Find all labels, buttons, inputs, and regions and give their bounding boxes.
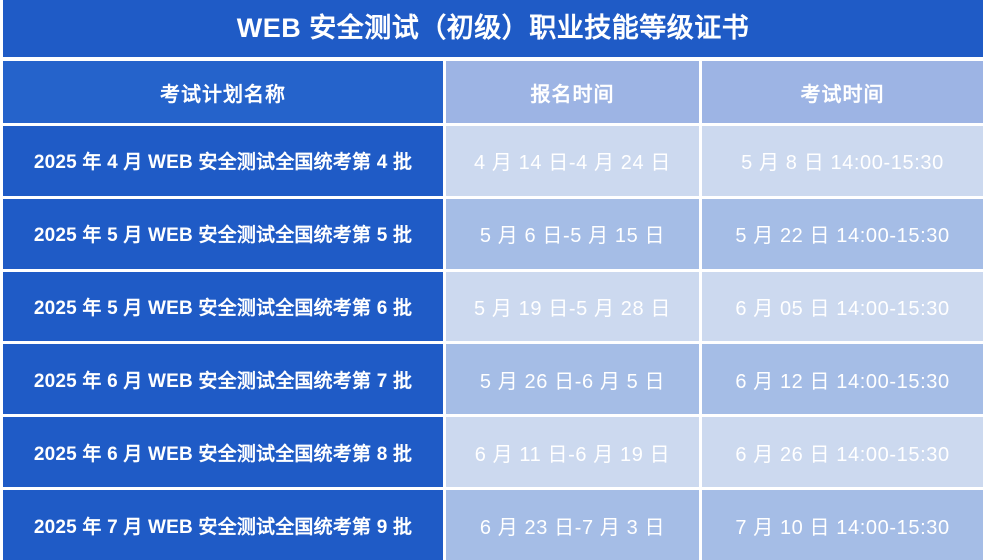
table-row: 2025 年 6 月 WEB 安全测试全国统考第 8 批 6 月 11 日-6 …	[3, 414, 983, 487]
table-row: 2025 年 5 月 WEB 安全测试全国统考第 5 批 5 月 6 日-5 月…	[3, 196, 983, 269]
plan-name-text: 2025 年 4 月 WEB 安全测试全国统考第 4 批	[34, 147, 412, 174]
cell-exam-time: 7 月 10 日 14:00-15:30	[702, 490, 983, 560]
column-header-exam-time-label: 考试时间	[801, 78, 885, 107]
page-title: WEB 安全测试（初级）职业技能等级证书	[237, 15, 750, 42]
column-header-exam-time: 考试时间	[702, 61, 983, 123]
cell-exam-time: 5 月 8 日 14:00-15:30	[702, 126, 983, 196]
plan-name-text: 2025 年 5 月 WEB 安全测试全国统考第 6 批	[34, 293, 412, 320]
plan-name-text: 2025 年 7 月 WEB 安全测试全国统考第 9 批	[34, 512, 412, 539]
cell-application-time: 5 月 26 日-6 月 5 日	[446, 344, 699, 414]
cell-plan-name: 2025 年 6 月 WEB 安全测试全国统考第 8 批	[3, 417, 443, 487]
exam-schedule-card: WEB 安全测试（初级）职业技能等级证书 考试计划名称 报名时间 考试时间 20…	[0, 0, 986, 560]
column-header-application-time: 报名时间	[446, 61, 699, 123]
table-row: 2025 年 6 月 WEB 安全测试全国统考第 7 批 5 月 26 日-6 …	[3, 341, 983, 414]
cell-exam-time: 6 月 05 日 14:00-15:30	[702, 272, 983, 342]
exam-time-text: 5 月 22 日 14:00-15:30	[735, 219, 949, 248]
exam-time-text: 6 月 05 日 14:00-15:30	[735, 292, 949, 321]
cell-exam-time: 6 月 26 日 14:00-15:30	[702, 417, 983, 487]
cell-plan-name: 2025 年 6 月 WEB 安全测试全国统考第 7 批	[3, 344, 443, 414]
table-row: 2025 年 4 月 WEB 安全测试全国统考第 4 批 4 月 14 日-4 …	[3, 123, 983, 196]
application-time-text: 6 月 11 日-6 月 19 日	[475, 438, 670, 467]
table-header-row: 考试计划名称 报名时间 考试时间	[3, 61, 983, 123]
cell-exam-time: 5 月 22 日 14:00-15:30	[702, 199, 983, 269]
cell-application-time: 4 月 14 日-4 月 24 日	[446, 126, 699, 196]
application-time-text: 5 月 26 日-6 月 5 日	[480, 365, 665, 394]
application-time-text: 5 月 6 日-5 月 15 日	[480, 219, 665, 248]
column-header-plan-name: 考试计划名称	[3, 61, 443, 123]
table-row: 2025 年 7 月 WEB 安全测试全国统考第 9 批 6 月 23 日-7 …	[3, 487, 983, 560]
column-header-plan-name-label: 考试计划名称	[160, 78, 286, 107]
cell-plan-name: 2025 年 7 月 WEB 安全测试全国统考第 9 批	[3, 490, 443, 560]
cell-plan-name: 2025 年 5 月 WEB 安全测试全国统考第 5 批	[3, 199, 443, 269]
cell-exam-time: 6 月 12 日 14:00-15:30	[702, 344, 983, 414]
cell-application-time: 6 月 11 日-6 月 19 日	[446, 417, 699, 487]
cell-application-time: 5 月 19 日-5 月 28 日	[446, 272, 699, 342]
table-row: 2025 年 5 月 WEB 安全测试全国统考第 6 批 5 月 19 日-5 …	[3, 269, 983, 342]
cell-application-time: 5 月 6 日-5 月 15 日	[446, 199, 699, 269]
cell-plan-name: 2025 年 5 月 WEB 安全测试全国统考第 6 批	[3, 272, 443, 342]
card-title-bar: WEB 安全测试（初级）职业技能等级证书	[3, 0, 983, 57]
exam-schedule-table: 考试计划名称 报名时间 考试时间 2025 年 4 月 WEB 安全测试全国统考…	[3, 61, 983, 560]
exam-time-text: 6 月 12 日 14:00-15:30	[735, 365, 949, 394]
cell-application-time: 6 月 23 日-7 月 3 日	[446, 490, 699, 560]
exam-time-text: 7 月 10 日 14:00-15:30	[735, 511, 949, 540]
exam-time-text: 6 月 26 日 14:00-15:30	[735, 438, 949, 467]
application-time-text: 4 月 14 日-4 月 24 日	[474, 146, 671, 175]
cell-plan-name: 2025 年 4 月 WEB 安全测试全国统考第 4 批	[3, 126, 443, 196]
plan-name-text: 2025 年 6 月 WEB 安全测试全国统考第 7 批	[34, 366, 412, 393]
exam-time-text: 5 月 8 日 14:00-15:30	[741, 146, 944, 175]
application-time-text: 5 月 19 日-5 月 28 日	[474, 292, 671, 321]
column-header-application-time-label: 报名时间	[531, 78, 615, 107]
application-time-text: 6 月 23 日-7 月 3 日	[480, 511, 665, 540]
plan-name-text: 2025 年 6 月 WEB 安全测试全国统考第 8 批	[34, 439, 412, 466]
plan-name-text: 2025 年 5 月 WEB 安全测试全国统考第 5 批	[34, 220, 412, 247]
